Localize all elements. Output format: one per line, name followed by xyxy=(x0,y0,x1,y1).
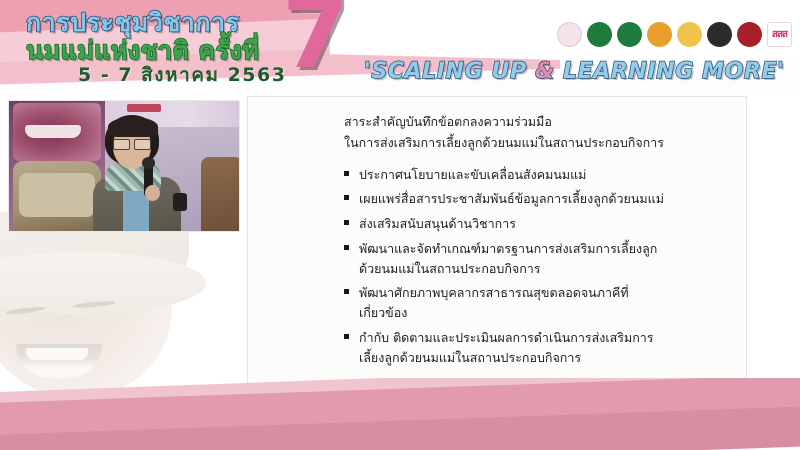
conference-tagline: 'SCALING UP & LEARNING MORE' xyxy=(364,59,784,84)
tagline-suffix: LEARNING MORE' xyxy=(555,59,785,84)
list-item: พัฒนาศักยภาพบุคลากรสาธารณสุขตลอดจนภาคีที… xyxy=(344,283,726,323)
bullet-text-line-1: ประกาศนโยบายและขับเคลื่อนสังคมนมแม่ xyxy=(359,167,586,182)
list-item: ประกาศนโยบายและขับเคลื่อนสังคมนมแม่ xyxy=(344,165,726,185)
garuda-emblem-logo xyxy=(677,22,702,47)
bullet-text-line-2: เลี้ยงลูกด้วยนมแม่ในสถานประกอบกิจการ xyxy=(359,348,726,368)
bullet-text-line-1: พัฒนาและจัดทำเกณฑ์มาตรฐานการส่งเสริมการเ… xyxy=(359,241,657,256)
speaker-video-thumbnail[interactable] xyxy=(8,100,240,232)
list-item: เผยแพร่สื่อสารประชาสัมพันธ์ข้อมูลการเลี้… xyxy=(344,189,726,209)
presentation-slide: การประชุมวิชาการ นมแม่แห่งชาติ ครั้งที่ … xyxy=(0,0,800,450)
speaker-hair-fringe xyxy=(108,117,158,137)
armchair-left-seat xyxy=(19,173,95,217)
tagline-ampersand: & xyxy=(535,59,555,84)
conference-date: 5 - 7 สิงหาคม 2563 xyxy=(78,60,286,90)
speaker-glasses xyxy=(113,139,151,148)
national-institute-logo xyxy=(707,22,732,47)
bullet-text-line-2: เกี่ยวข้อง xyxy=(359,303,726,323)
content-lede-line-1: สาระสำคัญบันทึกข้อตกลงความร่วมมือ xyxy=(344,111,726,132)
square-bullet-icon xyxy=(344,334,349,339)
bullet-text-line-1: ส่งเสริมสนับสนุนด้านวิชาการ xyxy=(359,216,516,231)
bullet-text-line-2: ด้วยนมแม่ในสถานประกอบกิจการ xyxy=(359,259,726,279)
university-seal-logo xyxy=(737,22,762,47)
ministry-public-health-logo xyxy=(587,22,612,47)
square-bullet-icon xyxy=(344,289,349,294)
presentation-clicker xyxy=(173,193,187,211)
square-bullet-icon xyxy=(344,245,349,250)
mou-bullet-list: ประกาศนโยบายและขับเคลื่อนสังคมนมแม่ เผยแ… xyxy=(344,165,726,368)
slide-footer-banner xyxy=(0,378,800,450)
bullet-text-line-1: เผยแพร่สื่อสารประชาสัมพันธ์ข้อมูลการเลี้… xyxy=(359,191,664,206)
child-teeth-shape xyxy=(26,348,88,360)
bullet-text-line-1: พัฒนาศักยภาพบุคลากรสาธารณสุขตลอดจนภาคีที… xyxy=(359,285,629,300)
speaker-hand xyxy=(145,185,160,201)
list-item: ส่งเสริมสนับสนุนด้านวิชาการ xyxy=(344,214,726,234)
royal-crest-logo xyxy=(647,22,672,47)
square-bullet-icon xyxy=(344,171,349,176)
content-lede: สาระสำคัญบันทึกข้อตกลงความร่วมมือ ในการส… xyxy=(344,111,726,154)
stage-banner-accent xyxy=(127,104,161,112)
square-bullet-icon xyxy=(344,195,349,200)
microphone-head xyxy=(142,157,155,169)
thaihealth-logo: สสส xyxy=(767,22,792,47)
content-lede-line-2: ในการส่งเสริมการเลี้ยงลูกด้วยนมแม่ในสถาน… xyxy=(344,132,726,153)
backdrop-mouth-teeth xyxy=(25,125,81,138)
edition-number: 7 xyxy=(282,0,349,82)
armchair-right xyxy=(201,157,240,232)
list-item: พัฒนาและจัดทำเกณฑ์มาตรฐานการส่งเสริมการเ… xyxy=(344,239,726,279)
bullet-text-line-1: กำกับ ติดตามและประเมินผลการดำเนินการส่งเ… xyxy=(359,330,654,345)
tagline-prefix: 'SCALING UP xyxy=(364,59,535,84)
health-department-logo xyxy=(617,22,642,47)
square-bullet-icon xyxy=(344,220,349,225)
sponsor-logo-row: สสส xyxy=(557,22,792,47)
royal-patronage-logo xyxy=(557,22,582,47)
slide-header-banner: การประชุมวิชาการ นมแม่แห่งชาติ ครั้งที่ … xyxy=(0,0,800,96)
list-item: กำกับ ติดตามและประเมินผลการดำเนินการส่งเ… xyxy=(344,328,726,368)
